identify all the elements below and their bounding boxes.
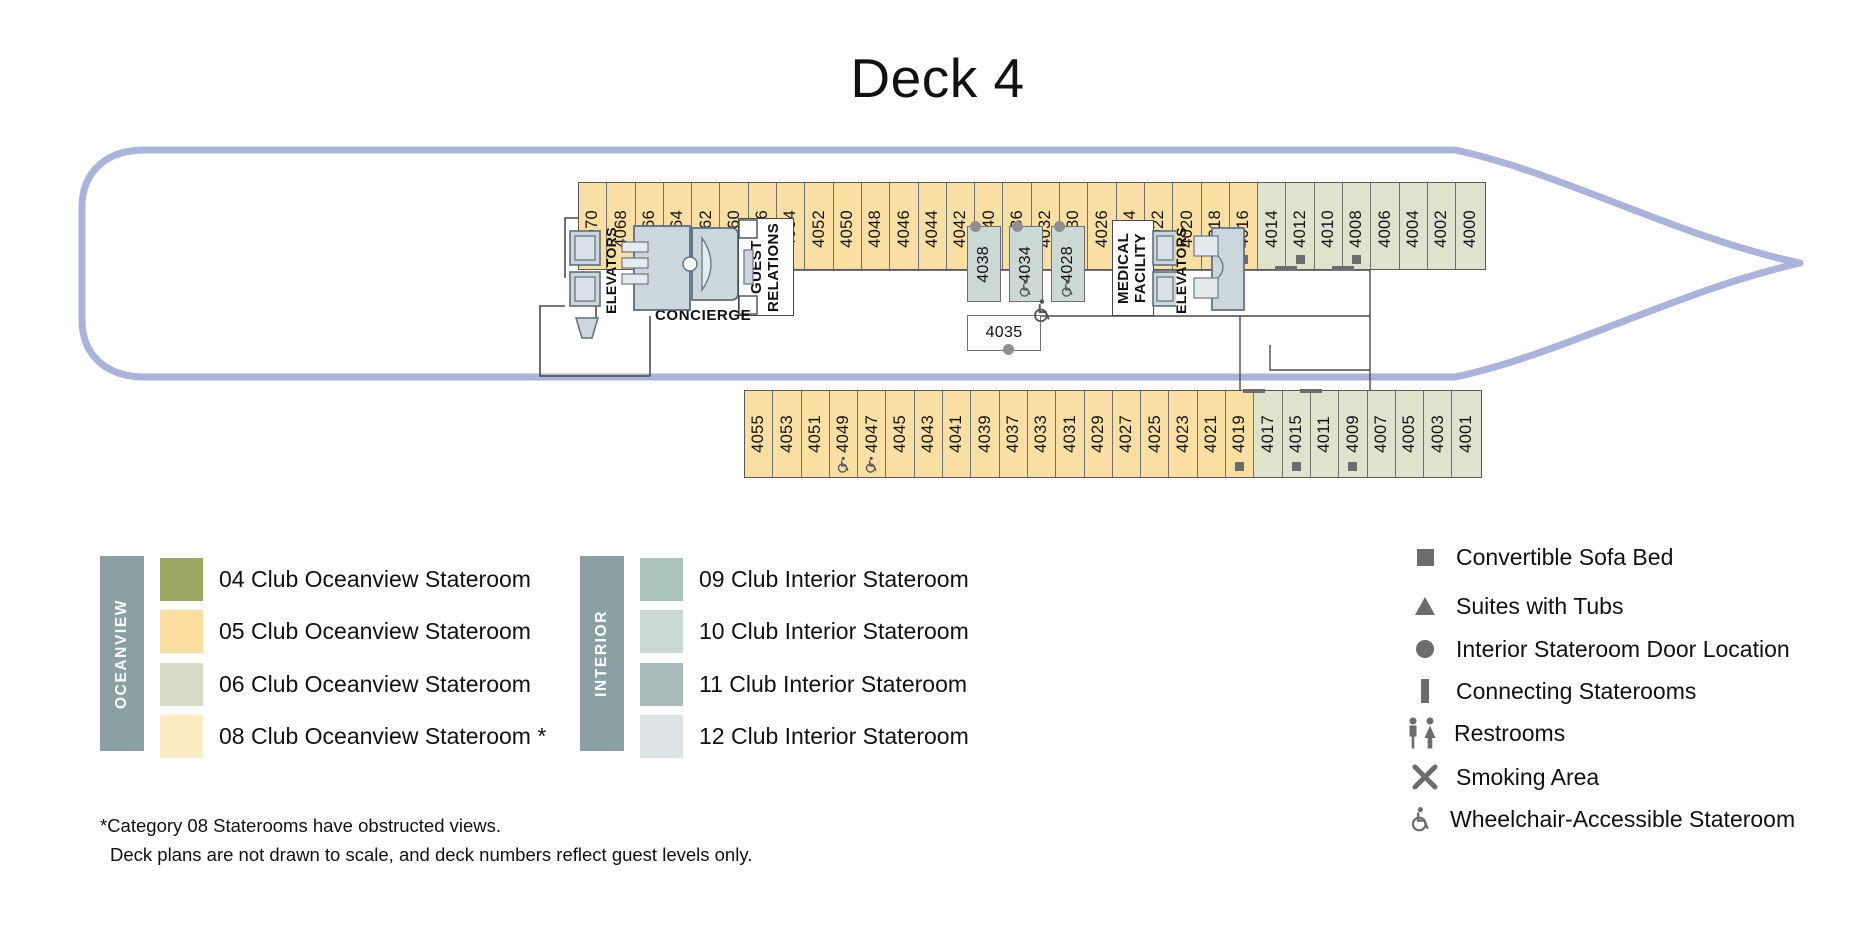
stateroom-4033[interactable]: 4033 [1028,391,1056,477]
legend-symbol-door-location: Interior Stateroom Door Location [1408,634,1790,664]
medical-facility-room: MEDICAL FACILITY [1112,220,1154,316]
stateroom-number: 4046 [896,210,913,248]
stateroom-number: 4009 [1345,415,1362,453]
stateroom-4023[interactable]: 4023 [1169,391,1197,477]
stateroom-4053[interactable]: 4053 [773,391,801,477]
stateroom-4037[interactable]: 4037 [1000,391,1028,477]
stateroom-number: 4041 [948,415,965,453]
stateroom-number: 4015 [1288,415,1305,453]
sofa-bed-marker [1348,462,1357,471]
stateroom-4051[interactable]: 4051 [802,391,830,477]
stateroom-4025[interactable]: 4025 [1141,391,1169,477]
interior-category-band: INTERIOR [580,556,624,751]
legend-item-05: 05 Club Oceanview Stateroom [160,610,531,653]
legend-item-04: 04 Club Oceanview Stateroom [160,558,531,601]
legend-item-11: 11 Club Interior Stateroom [640,663,967,706]
wheelchair-icon [1404,806,1438,833]
stateroom-4052[interactable]: 4052 [805,183,833,269]
swatch-11 [640,663,683,706]
aft-landing-icon [572,316,602,344]
stateroom-4048[interactable]: 4048 [862,183,890,269]
legend-item-06: 06 Club Oceanview Stateroom [160,663,531,706]
connecting-stateroom-marker [1275,266,1297,270]
stateroom-4031[interactable]: 4031 [1056,391,1084,477]
wheelchair-icon [863,456,881,474]
footnote-line-1: *Category 08 Staterooms have obstructed … [100,815,501,836]
footnote-line-2: Deck plans are not drawn to scale, and d… [100,841,752,870]
door-location-dot [970,221,981,232]
stateroom-number: 4011 [1316,416,1333,453]
legend-symbol-sofa-bed: Convertible Sofa Bed [1408,542,1673,572]
stateroom-4010[interactable]: 4010 [1315,183,1343,269]
stateroom-number: 4045 [892,415,909,453]
wheelchair-icon [1017,280,1035,298]
stateroom-4014[interactable]: 4014 [1258,183,1286,269]
stateroom-number: 4019 [1231,415,1248,453]
stateroom-number: 4023 [1175,415,1192,453]
interior-stateroom-4034[interactable]: 4034 [1009,226,1043,302]
square-icon [1408,549,1442,566]
connecting-stateroom-marker [1300,389,1322,393]
stateroom-4006[interactable]: 4006 [1371,183,1399,269]
elevators-fwd-label: ELEVATORS [1174,228,1190,312]
stateroom-number: 4000 [1462,210,1479,248]
stateroom-4017[interactable]: 4017 [1254,391,1282,477]
legend-symbol-suites-tubs: Suites with Tubs [1408,591,1623,621]
sofa-bed-marker [1296,255,1305,264]
stateroom-4045[interactable]: 4045 [886,391,914,477]
legend-symbol-restrooms: Restrooms [1404,718,1565,748]
stateroom-number: 4003 [1430,415,1447,453]
legend-item-10: 10 Club Interior Stateroom [640,610,969,653]
stateroom-4049[interactable]: 4049 [830,391,858,477]
elevators-aft-label: ELEVATORS [604,228,620,312]
stateroom-4019[interactable]: 4019 [1226,391,1254,477]
sofa-bed-marker [1235,462,1244,471]
stateroom-number: 4033 [1033,415,1050,453]
stateroom-number: 4017 [1260,415,1277,453]
stateroom-4004[interactable]: 4004 [1400,183,1428,269]
stateroom-4046[interactable]: 4046 [890,183,918,269]
elevator-cars-fwd-icon [1152,228,1176,314]
stateroom-4003[interactable]: 4003 [1424,391,1452,477]
legend-symbol-connecting: Connecting Staterooms [1408,676,1696,706]
triangle-icon [1408,597,1442,615]
stateroom-number: 4012 [1292,210,1309,248]
swatch-12 [640,715,683,758]
stateroom-4012[interactable]: 4012 [1286,183,1314,269]
wheelchair-icon [1030,298,1056,324]
stateroom-number: 4008 [1348,210,1365,248]
lower-stateroom-row: 4055405340514049404740454043404140394037… [744,390,1482,478]
stateroom-number: 4051 [807,415,824,453]
stateroom-number: 4048 [867,210,884,248]
stateroom-4041[interactable]: 4041 [943,391,971,477]
bar-icon [1408,679,1442,703]
wheelchair-icon [835,456,853,474]
stateroom-4039[interactable]: 4039 [971,391,999,477]
stateroom-number: 4027 [1118,415,1135,453]
stateroom-number: 4052 [811,210,828,248]
swatch-08 [160,715,203,758]
sofa-bed-marker [1352,255,1361,264]
legend-item-08: 08 Club Oceanview Stateroom * [160,715,546,758]
stateroom-4005[interactable]: 4005 [1396,391,1424,477]
stateroom-number: 4050 [839,210,856,248]
stateroom-4021[interactable]: 4021 [1198,391,1226,477]
stateroom-4007[interactable]: 4007 [1368,391,1396,477]
stateroom-4055[interactable]: 4055 [745,391,773,477]
stateroom-number: 4006 [1377,210,1394,248]
legend-symbol-smoking-area: Smoking Area [1408,762,1599,792]
legend-item-09: 09 Club Interior Stateroom [640,558,969,601]
wheelchair-icon [1059,280,1077,298]
stateroom-number: 4029 [1090,415,1107,453]
swatch-09 [640,558,683,601]
stateroom-4001[interactable]: 4001 [1452,391,1480,477]
stateroom-number: 4037 [1005,415,1022,453]
door-location-dot [1054,221,1065,232]
interior-stateroom-4028[interactable]: 4028 [1051,226,1085,302]
stateroom-number: 4007 [1373,415,1390,453]
stateroom-4000[interactable]: 4000 [1456,183,1484,269]
stateroom-number: 4025 [1147,415,1164,453]
sofa-bed-marker [1292,462,1301,471]
stateroom-number: 4026 [1094,210,1111,248]
stateroom-4015[interactable]: 4015 [1283,391,1311,477]
swatch-06 [160,663,203,706]
legend-symbol-wheelchair: Wheelchair-Accessible Stateroom [1404,804,1795,834]
stateroom-number: 4031 [1062,415,1079,453]
door-location-dot [1012,221,1023,232]
stateroom-number: 4039 [977,415,994,453]
stateroom-4002[interactable]: 4002 [1428,183,1456,269]
stateroom-number: 4055 [750,415,767,453]
stateroom-number: 4043 [920,415,937,453]
fwd-stairwell-icon [1192,222,1250,320]
stateroom-number: 4021 [1203,415,1220,453]
stateroom-4008[interactable]: 4008 [1343,183,1371,269]
interior-stateroom-4038[interactable]: 4038 [967,226,1001,302]
deck-plan-diagram: 4070406840664064406240604056405440524050… [0,130,1875,470]
legend-item-12: 12 Club Interior Stateroom [640,715,969,758]
stateroom-number: 4014 [1264,210,1281,248]
swatch-10 [640,610,683,653]
circle-icon [1408,640,1442,658]
stateroom-4011[interactable]: 4011 [1311,391,1339,477]
page-title: Deck 4 [0,46,1875,110]
stateroom-number: 4002 [1433,210,1450,248]
stateroom-4027[interactable]: 4027 [1113,391,1141,477]
swatch-05 [160,610,203,653]
connecting-stateroom-marker [1332,266,1354,270]
door-location-dot [1003,344,1014,355]
stateroom-4047[interactable]: 4047 [858,391,886,477]
footnote: *Category 08 Staterooms have obstructed … [100,812,752,869]
stateroom-number: 4001 [1458,415,1475,453]
legend: OCEANVIEW 04 Club Oceanview Stateroom 05… [0,540,1875,940]
stateroom-number: 4004 [1405,210,1422,248]
guest-relations-counter [735,216,797,320]
stateroom-number: 4053 [779,415,796,453]
stateroom-number: 4005 [1401,415,1418,453]
stateroom-4050[interactable]: 4050 [834,183,862,269]
elevator-cars-aft-icon [566,228,604,314]
oceanview-category-band: OCEANVIEW [100,556,144,751]
stateroom-4044[interactable]: 4044 [919,183,947,269]
stateroom-4009[interactable]: 4009 [1339,391,1367,477]
stateroom-4043[interactable]: 4043 [915,391,943,477]
swatch-04 [160,558,203,601]
stateroom-number: 4049 [835,415,852,453]
smoking-x-icon [1408,764,1442,790]
connecting-stateroom-marker [1243,389,1265,393]
stateroom-4029[interactable]: 4029 [1085,391,1113,477]
restrooms-icon [1404,717,1444,749]
stateroom-number: 4044 [924,210,941,248]
stateroom-number: 4010 [1320,210,1337,248]
aft-stairwell-icon [620,218,738,320]
stateroom-number: 4047 [864,415,881,453]
